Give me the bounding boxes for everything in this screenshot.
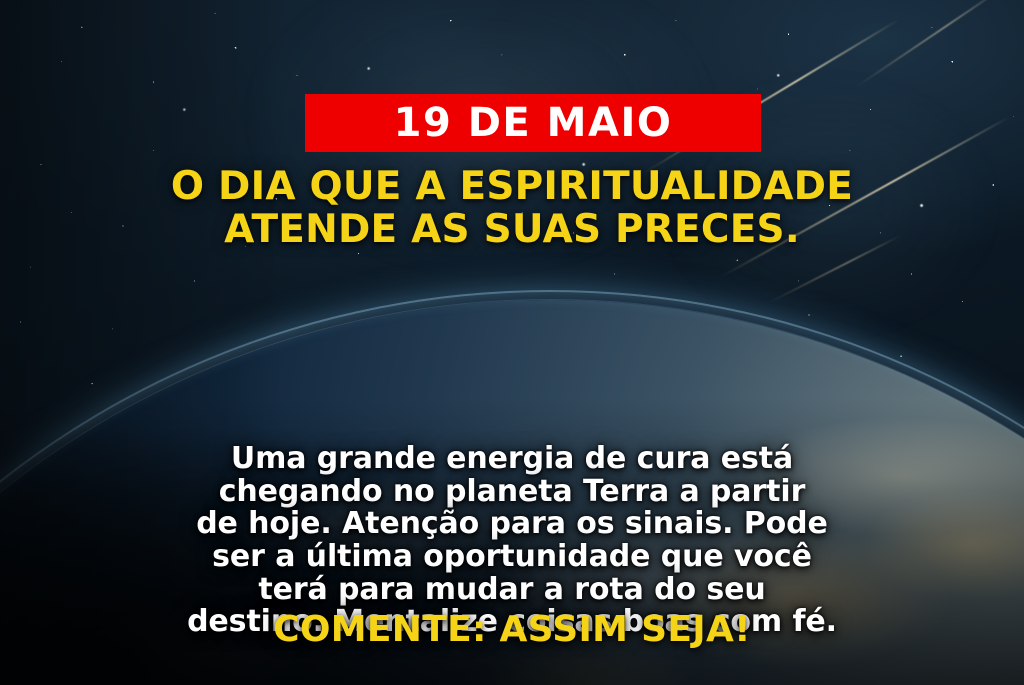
headline: O DIA QUE A ESPIRITUALIDADE ATENDE AS SU… xyxy=(0,166,1024,251)
date-banner-label: 19 DE MAIO xyxy=(394,103,673,143)
body-line: ser a última oportunidade que você xyxy=(44,541,980,574)
body-line: Uma grande energia de cura está xyxy=(44,443,980,476)
headline-line-1: O DIA QUE A ESPIRITUALIDADE xyxy=(171,164,853,209)
headline-line-2: ATENDE AS SUAS PRECES. xyxy=(36,209,988,252)
body-line: terá para mudar a rota do seu xyxy=(44,574,980,607)
call-to-action-text: COMENTE: ASSIM SEJA! xyxy=(0,612,1024,648)
body-line: de hoje. Atenção para os sinais. Pode xyxy=(44,508,980,541)
date-banner: 19 DE MAIO xyxy=(305,94,761,152)
poster-canvas: 19 DE MAIO O DIA QUE A ESPIRITUALIDADE A… xyxy=(0,0,1024,685)
poster-content: 19 DE MAIO O DIA QUE A ESPIRITUALIDADE A… xyxy=(0,0,1024,685)
body-line: chegando no planeta Terra a partir xyxy=(44,476,980,509)
